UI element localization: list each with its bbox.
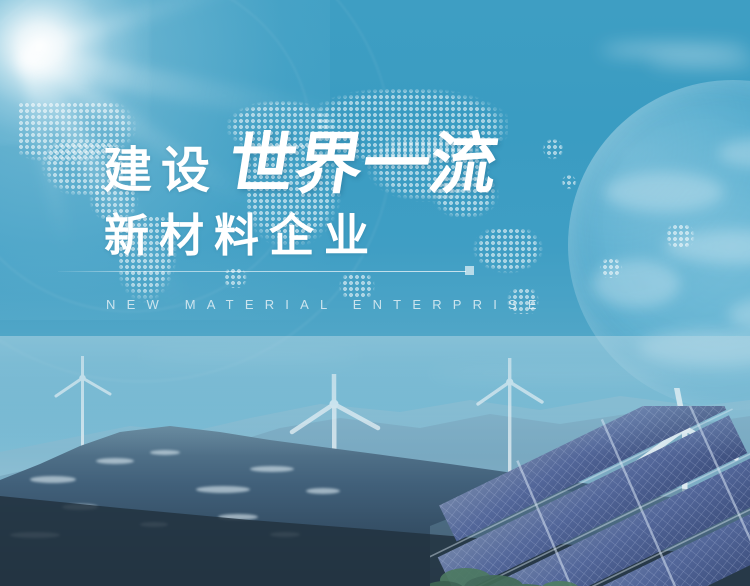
- headline-prefix: 建设: [103, 147, 219, 196]
- cloud-wisp: [648, 58, 750, 67]
- landscape-scene: [0, 336, 750, 586]
- headline-line-2: 新材料企业: [104, 213, 379, 258]
- subtitle-text: NEW MATERIAL ENTERPRISE: [106, 297, 548, 312]
- solar-panel-array-icon: [430, 406, 750, 586]
- dotted-world-map: [0, 78, 750, 328]
- hero-banner: 建设 世界一流 新材料企业 NEW MATERIAL ENTERPRISE: [0, 0, 750, 586]
- cloud-wisp: [600, 44, 750, 56]
- headline-line-1: 建设 世界一流: [103, 131, 497, 198]
- headline-emphasis: 世界一流: [224, 131, 503, 198]
